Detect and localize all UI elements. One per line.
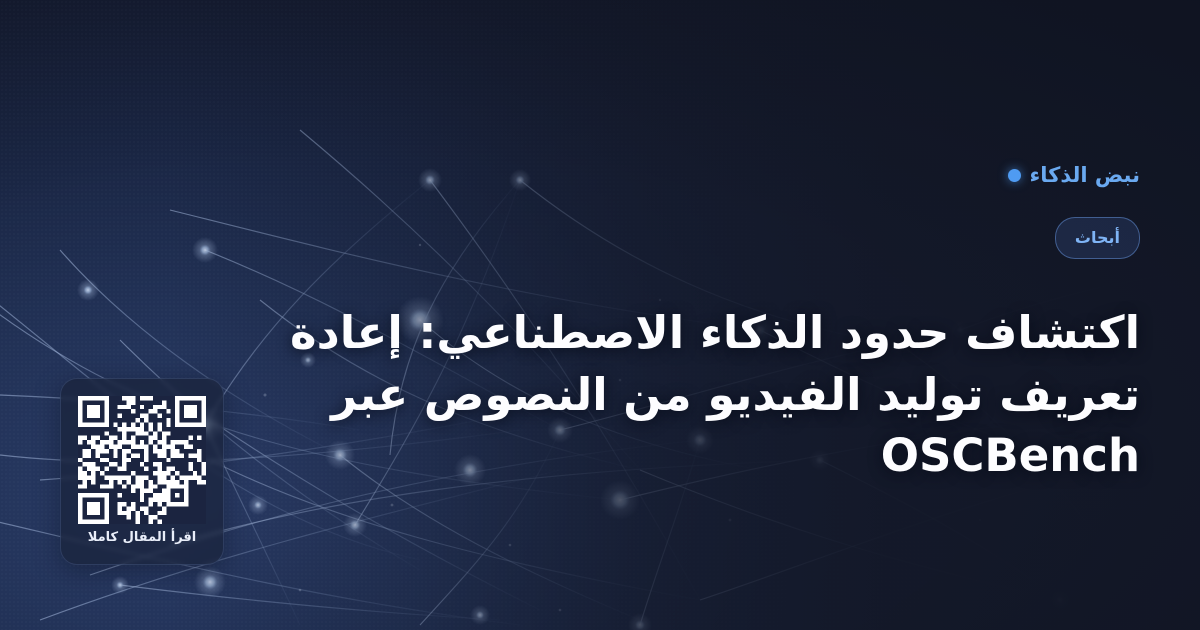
og-card: نبض الذكاء أبحاث اكتشاف حدود الذكاء الاص… (0, 0, 1200, 630)
qr-caption: اقرأ المقال كاملا (61, 531, 223, 544)
brand-name: نبض الذكاء (1030, 165, 1140, 186)
brand: نبض الذكاء (1008, 165, 1140, 186)
category-badge-label: أبحاث (1075, 230, 1120, 246)
headline-line-1: اكتشاف حدود الذكاء الاصطناعي: إعادة (440, 302, 1140, 364)
page-title: اكتشاف حدود الذكاء الاصطناعي: إعادة تعري… (440, 302, 1140, 487)
category-badge[interactable]: أبحاث (1055, 217, 1140, 259)
headline-line-2: تعريف توليد الفيديو من النصوص عبر (440, 364, 1140, 426)
qr-code-icon[interactable] (78, 396, 206, 524)
qr-card[interactable]: اقرأ المقال كاملا (60, 378, 224, 565)
content-column: نبض الذكاء أبحاث اكتشاف حدود الذكاء الاص… (440, 0, 1140, 630)
brand-dot-icon (1008, 169, 1021, 182)
headline-line-3: OSCBench (440, 425, 1140, 487)
